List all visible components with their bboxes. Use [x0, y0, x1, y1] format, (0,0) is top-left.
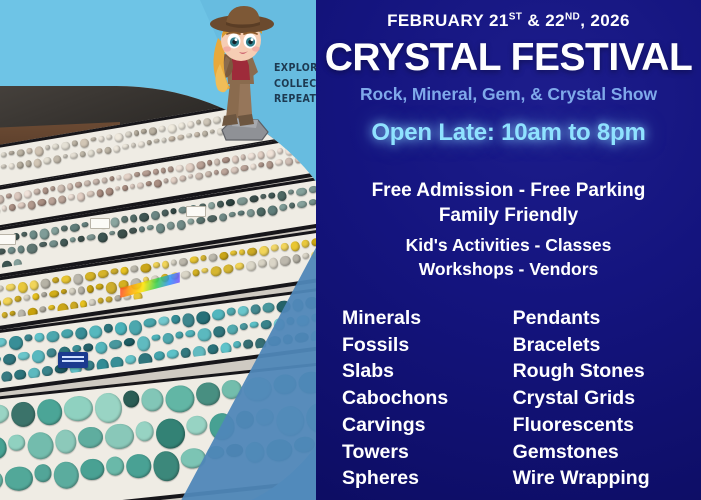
offering-item: Fluorescents — [513, 412, 701, 439]
stone — [70, 236, 77, 242]
stone — [4, 466, 35, 492]
stone — [152, 450, 181, 482]
stone — [13, 259, 23, 269]
stone — [81, 222, 88, 228]
stone — [186, 133, 192, 138]
stone — [61, 275, 72, 284]
stone — [167, 166, 174, 173]
stone — [16, 161, 24, 169]
stone — [39, 306, 47, 313]
offering-item: Minerals — [342, 305, 513, 332]
offering-item: Wire Wrapping — [513, 465, 701, 492]
stone — [0, 206, 1, 215]
stone — [71, 140, 78, 147]
stone — [290, 241, 300, 252]
mascot-explorer-girl: EXPLORE COLLECT REPEAT — [196, 4, 326, 144]
stone — [34, 332, 45, 342]
stone — [17, 245, 25, 254]
stone — [148, 127, 157, 136]
admission-line: Free Admission - Free Parking — [316, 178, 701, 203]
stone — [87, 149, 95, 157]
stone — [296, 187, 307, 196]
stone — [206, 214, 218, 223]
stone — [267, 205, 278, 216]
stone — [0, 262, 1, 271]
stone — [105, 456, 125, 477]
stone — [124, 131, 132, 138]
stone — [175, 331, 184, 340]
stone — [77, 286, 85, 294]
stone — [124, 354, 137, 365]
stone — [295, 156, 302, 164]
stone — [258, 245, 269, 256]
stone — [145, 181, 152, 186]
stone — [48, 197, 57, 206]
stone — [25, 159, 33, 167]
stone — [129, 214, 137, 223]
stone — [158, 316, 170, 326]
stone — [39, 241, 48, 248]
stone — [303, 154, 312, 162]
stone — [171, 177, 179, 185]
blue-price-label — [58, 352, 88, 368]
stone — [86, 233, 96, 241]
stone — [221, 168, 230, 176]
stone — [1, 370, 13, 382]
stone — [248, 152, 256, 160]
stone — [32, 293, 40, 301]
tagline-line-2: COLLECT — [274, 76, 322, 92]
stone — [0, 387, 11, 393]
stone — [201, 268, 209, 274]
price-tag — [186, 206, 206, 217]
stone — [125, 453, 153, 479]
stone — [249, 195, 259, 203]
left-photo-panel: EXPLORE COLLECT REPEAT — [0, 0, 330, 500]
stone — [98, 269, 110, 278]
stone — [131, 142, 137, 148]
stone — [34, 188, 41, 195]
date-ampersand: & — [522, 11, 545, 30]
stone — [260, 319, 272, 330]
stone — [109, 230, 116, 235]
offering-item: Fossils — [342, 332, 513, 359]
stone — [195, 172, 204, 180]
stone — [109, 339, 123, 350]
stone — [70, 152, 78, 159]
stone — [2, 353, 17, 366]
offering-item: Rough Stones — [513, 358, 701, 385]
stone — [88, 298, 97, 306]
stone — [128, 319, 143, 335]
price-tag — [90, 218, 110, 229]
stone — [0, 337, 8, 348]
activities-line: Kid's Activities - Classes — [316, 234, 701, 258]
stone — [83, 377, 92, 387]
offering-item: Gemstones — [513, 439, 701, 466]
stone — [60, 238, 69, 247]
stone — [130, 184, 136, 190]
stone — [275, 159, 283, 166]
stone — [178, 122, 185, 130]
stone — [288, 189, 295, 195]
stone — [9, 203, 17, 211]
stone — [0, 403, 10, 425]
stone — [176, 219, 186, 230]
stone — [101, 177, 107, 184]
stone — [161, 137, 167, 143]
stone — [123, 173, 132, 181]
stone — [42, 187, 50, 195]
stone — [276, 148, 283, 155]
stone — [52, 143, 60, 150]
crystal-festival-poster: EXPLORE COLLECT REPEAT FEBRUARY 21ST & 2… — [0, 0, 701, 500]
date-year: , 2026 — [580, 11, 630, 30]
stone — [113, 145, 121, 154]
stone — [230, 250, 237, 256]
stone — [211, 308, 226, 321]
stone — [168, 135, 176, 142]
stone — [97, 148, 103, 154]
stone — [179, 175, 187, 182]
stone — [134, 421, 154, 442]
stone — [57, 184, 66, 193]
stone — [175, 164, 184, 172]
stone — [40, 278, 51, 289]
stone — [0, 436, 8, 460]
stone — [129, 265, 138, 273]
stone — [153, 179, 163, 188]
stone — [27, 200, 37, 211]
stone — [158, 125, 166, 132]
stone — [1, 260, 12, 271]
stone — [26, 243, 38, 255]
stone — [213, 325, 226, 338]
stone — [240, 165, 248, 172]
stone — [0, 355, 1, 364]
stone — [79, 150, 86, 157]
stone — [11, 386, 25, 394]
date-day-1: 21 — [489, 11, 509, 30]
offering-item: Slabs — [342, 358, 513, 385]
stone — [196, 216, 206, 224]
offering-item: Spheres — [342, 465, 513, 492]
stone — [137, 182, 144, 189]
stone — [7, 246, 16, 254]
stone — [150, 210, 160, 220]
stone — [284, 157, 294, 166]
family-friendly-line: Family Friendly — [316, 203, 701, 228]
stone — [257, 151, 265, 160]
stone — [26, 431, 55, 461]
stone — [138, 141, 145, 148]
mascot-tagline: EXPLORE COLLECT REPEAT — [274, 60, 322, 107]
event-date: FEBRUARY 21ST & 22ND, 2026 — [316, 11, 701, 31]
stone — [29, 230, 38, 240]
stone — [206, 159, 212, 166]
stone — [146, 139, 152, 145]
stone — [122, 390, 140, 409]
stone — [219, 213, 228, 222]
offering-item: Towers — [342, 439, 513, 466]
stone — [74, 327, 88, 340]
stone — [0, 164, 7, 169]
stone — [46, 347, 57, 357]
stone — [268, 257, 279, 269]
stone — [106, 134, 112, 139]
stone — [6, 283, 16, 291]
stone — [128, 227, 137, 235]
stone — [121, 215, 129, 222]
stone — [79, 300, 87, 309]
stone — [14, 369, 27, 381]
stone — [72, 273, 84, 286]
stone — [280, 242, 289, 251]
stone — [86, 190, 95, 197]
stone — [72, 344, 82, 352]
stone — [197, 327, 212, 342]
stone — [188, 174, 194, 179]
stone — [171, 314, 181, 324]
stone — [0, 194, 5, 204]
stone — [76, 192, 86, 202]
stone — [114, 321, 128, 336]
stone — [29, 280, 39, 291]
stone — [260, 193, 267, 199]
tagline-line-1: EXPLORE — [274, 60, 322, 76]
stone — [153, 138, 159, 143]
stone — [96, 283, 105, 290]
stone — [103, 323, 113, 333]
offering-item: Crystal Grids — [513, 385, 701, 412]
stone — [138, 226, 145, 233]
stone — [50, 381, 59, 389]
date-ordinal-1: ST — [509, 11, 523, 22]
stone — [258, 162, 265, 168]
stone — [83, 343, 94, 353]
stone — [231, 166, 240, 174]
activities-info: Kid's Activities - Classes Workshops - V… — [316, 234, 701, 282]
stone — [83, 180, 91, 187]
stone — [250, 321, 260, 329]
stone — [68, 288, 76, 296]
admission-info: Free Admission - Free Parking Family Fri… — [316, 178, 701, 228]
stone — [185, 162, 195, 172]
stone — [181, 312, 195, 327]
stone — [161, 209, 169, 217]
stone — [146, 224, 154, 230]
stone — [243, 339, 254, 350]
stone — [5, 193, 12, 199]
stone — [185, 329, 196, 338]
stone — [177, 134, 185, 141]
stone — [268, 192, 276, 199]
stone — [143, 317, 157, 328]
stone — [200, 255, 207, 262]
stone — [39, 228, 50, 240]
stone — [105, 187, 114, 196]
stone — [60, 225, 68, 232]
stone — [50, 186, 56, 191]
stone — [85, 271, 97, 281]
stone — [120, 266, 129, 275]
right-info-panel: FEBRUARY 21ST & 22ND, 2026 CRYSTAL FESTI… — [316, 0, 701, 500]
stone — [57, 195, 66, 204]
stone — [187, 218, 195, 225]
stone — [24, 334, 33, 342]
tagline-line-3: REPEAT — [274, 91, 322, 107]
stone — [226, 323, 239, 335]
stone — [167, 123, 177, 133]
stone — [106, 281, 118, 294]
stone — [33, 158, 42, 168]
stone — [192, 269, 201, 277]
stone — [21, 231, 28, 237]
stone — [63, 153, 69, 158]
stone — [186, 120, 194, 128]
offering-item: Bracelets — [513, 332, 701, 359]
stone — [214, 169, 220, 175]
stone — [97, 232, 109, 244]
stone — [0, 285, 5, 292]
stone — [41, 365, 53, 377]
stone — [205, 171, 213, 178]
stone — [233, 340, 242, 349]
stone — [258, 259, 267, 268]
stone — [256, 207, 266, 217]
stone — [122, 143, 130, 150]
stone — [46, 330, 60, 343]
stone — [266, 160, 274, 169]
stone — [36, 398, 63, 427]
stone — [17, 281, 29, 293]
stone — [238, 210, 245, 216]
stone — [53, 155, 62, 164]
page-subtitle: Rock, Mineral, Gem, & Crystal Show — [316, 84, 701, 105]
stone — [34, 146, 44, 157]
stone — [94, 341, 108, 355]
stone — [138, 352, 153, 368]
stone — [77, 426, 104, 449]
stone — [266, 149, 276, 159]
stone — [34, 464, 53, 483]
stone — [70, 301, 79, 311]
stone — [53, 461, 81, 490]
offerings-lists: MineralsFossilsSlabsCabochonsCarvingsTow… — [316, 305, 701, 492]
stone — [279, 255, 291, 267]
stone — [228, 211, 236, 218]
stone — [92, 178, 100, 185]
stone — [166, 221, 175, 230]
stone — [116, 174, 122, 179]
stone — [297, 200, 308, 209]
stone — [98, 135, 105, 142]
stone — [0, 469, 4, 493]
stone — [161, 260, 169, 269]
stone — [140, 387, 165, 412]
stone — [95, 358, 109, 374]
stone — [237, 305, 249, 316]
price-tag — [0, 234, 16, 245]
stone — [43, 156, 52, 164]
stone — [86, 285, 94, 294]
offering-item: Pendants — [513, 305, 701, 332]
stone — [57, 303, 70, 316]
stone — [109, 217, 120, 228]
stone — [207, 202, 215, 210]
stone — [113, 132, 123, 142]
stone — [60, 328, 73, 339]
stone — [8, 162, 14, 169]
stone — [226, 307, 236, 316]
stone — [284, 146, 294, 156]
stone — [222, 156, 230, 163]
stone — [26, 147, 34, 154]
stone — [90, 137, 96, 142]
stone — [23, 294, 31, 301]
stone — [37, 198, 47, 206]
stone — [133, 130, 139, 137]
stone — [166, 348, 180, 359]
stone — [1, 312, 8, 319]
offering-item: Carvings — [342, 412, 513, 439]
stone — [18, 351, 31, 361]
stone — [18, 202, 26, 209]
stone — [196, 161, 206, 170]
stone — [23, 189, 32, 198]
stone — [170, 208, 177, 215]
stone — [124, 337, 136, 346]
stone — [192, 345, 207, 360]
stone — [276, 190, 287, 201]
stone — [164, 178, 170, 184]
stone — [238, 249, 246, 256]
stone — [142, 170, 151, 177]
stone — [278, 203, 287, 211]
stone — [288, 202, 295, 210]
date-day-2: 22 — [545, 11, 565, 30]
stone — [250, 304, 261, 315]
stone — [270, 244, 279, 252]
stone — [170, 259, 177, 266]
stone — [236, 196, 248, 206]
explorer-girl-illustration — [196, 4, 282, 144]
stone — [10, 401, 37, 429]
stone — [240, 154, 247, 161]
stone — [223, 264, 234, 274]
stone — [207, 343, 219, 355]
stone — [94, 392, 124, 425]
stone — [106, 296, 114, 303]
stone — [51, 226, 60, 235]
stone — [62, 395, 94, 423]
date-ordinal-2: ND — [565, 11, 580, 22]
stone — [160, 167, 167, 174]
stone — [104, 146, 112, 154]
stone — [231, 155, 239, 164]
stone — [104, 423, 135, 451]
stone — [60, 380, 69, 389]
stone — [98, 297, 105, 304]
offering-item: Cabochons — [342, 385, 513, 412]
stone — [214, 158, 221, 165]
stone — [88, 325, 102, 339]
stone — [196, 310, 211, 324]
stone — [9, 150, 15, 155]
stone — [180, 347, 191, 359]
stone — [69, 223, 81, 232]
stone — [80, 458, 105, 481]
